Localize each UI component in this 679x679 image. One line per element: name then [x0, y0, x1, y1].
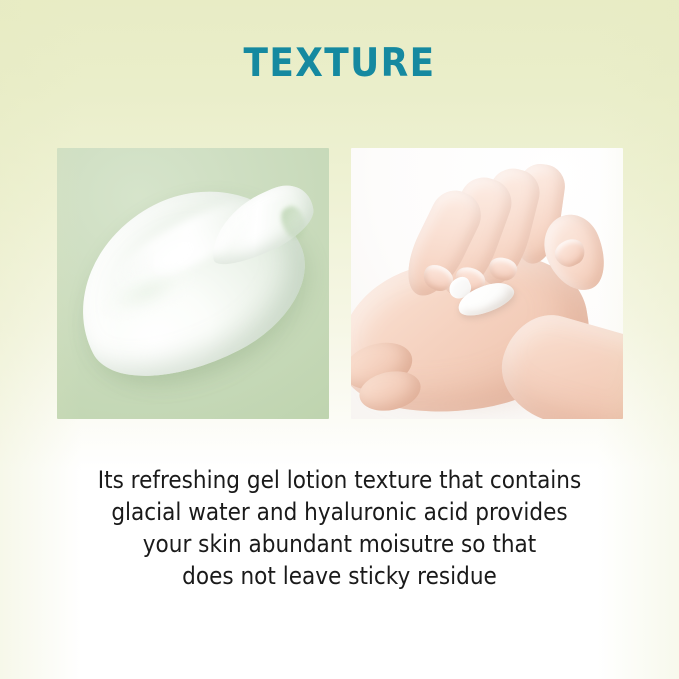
image-gallery	[57, 148, 623, 419]
description-line-3: your skin abundant moisutre so that	[34, 528, 645, 560]
description-line-2: glacial water and hyaluronic acid provid…	[34, 496, 645, 528]
page-title: TEXTURE	[27, 44, 652, 83]
description-line-4: does not leave sticky residue	[34, 560, 645, 592]
product-texture-panel: TEXTURE	[0, 0, 679, 679]
gel-swatch-photo	[57, 148, 329, 419]
description-line-1: Its refreshing gel lotion texture that c…	[34, 464, 645, 496]
description-text: Its refreshing gel lotion texture that c…	[34, 464, 645, 592]
hand-application-photo	[351, 148, 623, 419]
